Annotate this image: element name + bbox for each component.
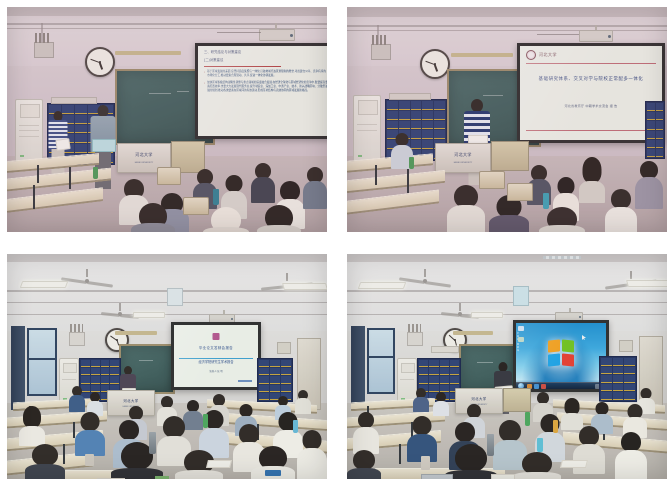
screen-glare xyxy=(174,325,258,387)
student-body xyxy=(25,464,65,479)
projector-lens xyxy=(608,35,611,38)
clock-center xyxy=(99,61,101,63)
ceiling-pipe xyxy=(347,290,667,292)
student-body xyxy=(297,448,327,479)
projection-screen: 计算机 回收站 xyxy=(513,320,609,392)
student xyxy=(257,205,301,232)
lectern-logo: 河北大学 xyxy=(460,395,499,402)
ceiling-beam xyxy=(347,254,667,262)
photo-bottom-right[interactable]: 计算机 回收站 xyxy=(347,254,667,479)
ac-display-panel xyxy=(20,104,41,118)
student xyxy=(615,432,647,479)
fan-rod xyxy=(286,273,288,281)
student-head-long-hair xyxy=(23,406,41,428)
ac-grill xyxy=(19,125,39,126)
student-head xyxy=(499,420,521,442)
ceiling-pipe xyxy=(347,25,667,27)
student-head xyxy=(303,430,322,450)
student-body xyxy=(175,470,223,479)
lectern-panel xyxy=(491,141,529,171)
ac-grill xyxy=(62,379,76,380)
wall-bracket-icon xyxy=(408,324,421,332)
wall-clock xyxy=(85,47,115,77)
desk-leg xyxy=(375,165,377,185)
student-head xyxy=(239,424,259,444)
seat-back xyxy=(183,197,209,215)
photo-top-left[interactable]: 三、研究结论与对策建议 (二)对策建议 ▫ 基于区域发展的差距,应坚持适度集聚与… xyxy=(7,7,327,232)
fan-hub xyxy=(458,312,462,316)
air-conditioner xyxy=(353,95,381,167)
student-body xyxy=(75,430,105,456)
ac-display-panel xyxy=(401,363,416,373)
notebook xyxy=(97,478,125,479)
ceiling-pipe xyxy=(7,23,327,25)
ceiling-beam xyxy=(7,7,327,16)
student-body xyxy=(513,472,561,479)
desk-leg xyxy=(407,169,409,193)
ceiling-pipe xyxy=(347,314,667,315)
student-head xyxy=(129,406,143,420)
projector-cable xyxy=(537,34,579,35)
student xyxy=(303,167,327,209)
water-bottle xyxy=(409,157,414,169)
student xyxy=(347,450,381,479)
student xyxy=(353,412,379,454)
fluorescent-light xyxy=(20,281,69,288)
ceiling xyxy=(347,254,667,340)
student-head xyxy=(358,412,374,428)
board-rail xyxy=(115,51,181,55)
lectern-sublabel: HEBEI UNIVERSITY xyxy=(441,161,484,165)
student-body xyxy=(347,468,381,479)
clock-hour-hand xyxy=(434,65,438,72)
fluorescent-light xyxy=(471,312,503,318)
chalk-mark xyxy=(477,362,493,363)
presenter-folder xyxy=(92,139,116,152)
ac-grill xyxy=(357,124,377,125)
clock-hour-hand xyxy=(454,341,457,346)
locker-header-label xyxy=(389,93,431,100)
seat-back xyxy=(479,171,505,189)
student xyxy=(433,392,449,416)
student-body xyxy=(447,205,485,232)
student xyxy=(75,412,105,456)
ceiling-beam xyxy=(347,7,667,17)
student xyxy=(251,163,275,203)
window xyxy=(27,328,57,396)
student xyxy=(513,452,561,479)
lectern-logo: 河北大学 xyxy=(122,151,166,159)
ceiling-pipe xyxy=(347,30,667,31)
student-body xyxy=(303,181,327,209)
air-conditioner xyxy=(15,99,43,167)
student-head xyxy=(32,444,58,466)
student-head xyxy=(163,416,185,438)
wall-speaker-box xyxy=(69,332,85,346)
ceiling-fan xyxy=(103,310,137,318)
ac-grill xyxy=(19,130,39,131)
student-head xyxy=(353,450,375,470)
projection-screen: 毕业论文答辩会报告 经济学院研究生学术报告 答辩人:张 明 xyxy=(171,322,261,390)
fluorescent-light xyxy=(282,283,327,290)
student xyxy=(413,388,429,412)
chalk-mark xyxy=(483,95,503,96)
board-rail xyxy=(115,331,157,335)
chalk-mark xyxy=(139,360,153,361)
student-body xyxy=(257,225,301,232)
wall-bracket-icon xyxy=(372,35,388,45)
lectern-logo: 河北大学 xyxy=(440,151,485,159)
thermos-flask xyxy=(149,432,156,454)
cup xyxy=(421,456,430,470)
ceiling-pipe xyxy=(7,314,327,315)
student-body xyxy=(573,444,605,474)
wall-speaker-box xyxy=(407,332,423,346)
chalk-mark xyxy=(177,91,189,92)
photo-bottom-left[interactable]: 毕业论文答辩会报告 经济学院研究生学术报告 答辩人:张 明 xyxy=(7,254,327,479)
clock-center xyxy=(434,63,436,65)
ceiling-vent-strip xyxy=(543,256,581,259)
desk-leg xyxy=(37,165,39,183)
student-head xyxy=(81,412,100,431)
student xyxy=(297,430,327,479)
desk-leg xyxy=(69,167,71,189)
fan-rod xyxy=(630,271,632,279)
ac-grill xyxy=(400,379,414,380)
ceiling-fan xyxy=(65,276,109,286)
projector xyxy=(259,29,295,41)
fan-hub xyxy=(423,279,427,283)
student-head xyxy=(611,189,631,209)
student xyxy=(131,203,175,232)
chalk-mark xyxy=(149,93,171,94)
student-head xyxy=(467,404,481,418)
photo-top-right[interactable]: 河北大学 基础研究体系、交叉对学与院校正常配多一体化 河北省教育厅 中期学术交流… xyxy=(347,7,667,232)
photo-grid: 三、研究结论与对策建议 (二)对策建议 ▫ 基于区域发展的差距,应坚持适度集聚与… xyxy=(0,0,669,484)
student xyxy=(579,157,605,203)
student xyxy=(203,207,249,232)
student xyxy=(447,185,485,232)
clock-center xyxy=(116,339,118,341)
water-bottle xyxy=(543,193,549,209)
student-body xyxy=(433,401,449,416)
student-body xyxy=(131,223,175,232)
fan-rod xyxy=(459,303,461,311)
lectern-sublabel: HEBEI UNIVERSITY xyxy=(123,161,165,165)
student-body xyxy=(251,177,275,203)
green-folder xyxy=(155,476,169,479)
ac-power-led xyxy=(20,155,24,157)
laptop xyxy=(421,474,453,479)
seat-back xyxy=(157,167,181,185)
student-body xyxy=(579,181,605,203)
fluorescent-light xyxy=(358,282,407,289)
locker-wall-right xyxy=(599,356,637,402)
board-rail xyxy=(453,331,493,335)
student-head xyxy=(280,181,300,201)
projector xyxy=(579,30,613,42)
wall-bracket-icon xyxy=(35,33,51,43)
student xyxy=(605,189,637,232)
seat-back xyxy=(507,183,533,201)
notebook xyxy=(560,460,588,468)
clock-center xyxy=(454,339,456,341)
window-mullion xyxy=(29,358,55,360)
hanging-light-box xyxy=(513,286,529,306)
student xyxy=(635,161,663,209)
ceiling-fan xyxy=(403,276,447,286)
hanging-light-box xyxy=(167,288,183,306)
screen-glare xyxy=(516,323,606,389)
student-head xyxy=(119,420,139,440)
student-head xyxy=(413,416,432,435)
ceiling-beam xyxy=(7,254,327,262)
student-head xyxy=(455,422,475,442)
student-body xyxy=(69,395,85,412)
lectern-panel xyxy=(503,388,531,412)
ceiling-pipe xyxy=(347,302,667,303)
screen-glare xyxy=(198,46,327,136)
student xyxy=(19,406,45,446)
curtain xyxy=(351,326,365,410)
thermos-flask xyxy=(487,434,494,456)
water-bottle xyxy=(553,420,558,433)
notebook xyxy=(206,460,232,468)
student xyxy=(539,207,585,232)
curtain xyxy=(11,326,25,410)
locker-wall-right xyxy=(645,101,665,159)
ac-grill xyxy=(357,130,377,131)
water-bottle xyxy=(213,189,219,205)
student-body xyxy=(413,397,429,412)
projection-screen: 三、研究结论与对策建议 (二)对策建议 ▫ 基于区域发展的差距,应坚持适度集聚与… xyxy=(195,43,327,139)
fan-rod xyxy=(424,269,426,277)
student-body xyxy=(539,225,585,232)
fan-hub xyxy=(85,279,89,283)
student-head xyxy=(621,432,641,452)
ac-grill xyxy=(19,136,39,137)
water-bottle xyxy=(293,420,298,433)
wall-sign xyxy=(431,346,459,353)
wall-speaker-box xyxy=(34,42,54,58)
desk-leg xyxy=(399,444,401,464)
wall-notice xyxy=(619,340,633,352)
cup xyxy=(85,454,94,466)
window xyxy=(367,328,395,394)
clock-hour-hand xyxy=(99,63,103,70)
locker-header-label xyxy=(51,97,97,104)
student-body xyxy=(19,426,45,446)
window-mullion xyxy=(369,356,393,358)
water-bottle xyxy=(93,167,98,179)
projector-lens xyxy=(290,34,293,37)
student-body xyxy=(605,207,637,232)
student xyxy=(69,386,85,412)
lectern: 河北大学 HEBEI UNIVERSITY xyxy=(435,143,491,173)
student-head xyxy=(455,444,487,472)
fan-hub xyxy=(118,312,122,316)
wall-bracket-icon xyxy=(70,324,83,332)
projector-lens xyxy=(579,316,581,318)
presenter-papers xyxy=(55,138,70,151)
water-bottle xyxy=(525,412,530,426)
water-bottle xyxy=(537,438,543,452)
wall-clock xyxy=(420,49,450,79)
projection-screen: 河北大学 基础研究体系、交叉对学与院校正常配多一体化 河北省教育厅 中期学术交流… xyxy=(517,43,665,143)
fan-rod xyxy=(119,303,121,311)
notebook xyxy=(491,474,515,479)
fan-rod xyxy=(86,269,88,277)
screen-glare xyxy=(520,46,662,140)
student-body xyxy=(203,227,249,232)
desk-leg xyxy=(33,185,35,209)
student-head xyxy=(579,426,599,446)
wall-speaker-box xyxy=(371,44,391,60)
student xyxy=(25,444,65,479)
ac-power-led xyxy=(358,155,362,157)
student-body xyxy=(615,450,647,479)
student-body xyxy=(489,215,529,232)
projector-cable xyxy=(217,32,261,33)
fluorescent-light xyxy=(626,280,667,287)
student-body xyxy=(635,177,663,209)
lectern-logo: 河北大学 xyxy=(112,397,151,404)
student-head-long-hair xyxy=(583,157,602,183)
projector-lens xyxy=(231,318,233,320)
student xyxy=(295,390,311,414)
ac-display-panel xyxy=(358,100,379,115)
water-bottle xyxy=(203,414,208,428)
student-head xyxy=(226,175,243,192)
ac-display-panel xyxy=(63,363,78,373)
tshirt-print xyxy=(265,470,281,476)
board-rail xyxy=(451,53,513,57)
wall-notice xyxy=(277,342,291,354)
fluorescent-light xyxy=(133,312,165,318)
